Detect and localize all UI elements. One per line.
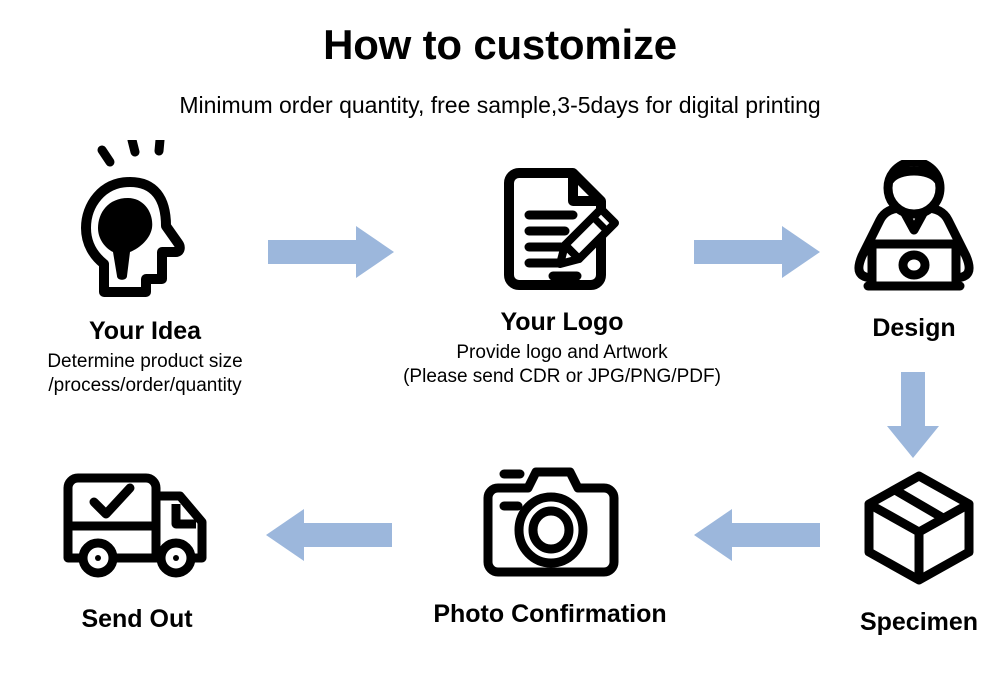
step-send-out: Send Out <box>22 466 252 634</box>
step-desc-line2: (Please send CDR or JPG/PNG/PDF) <box>352 365 772 389</box>
step-title: Send Out <box>22 605 252 634</box>
how-to-customize-infographic: How to customize Minimum order quantity,… <box>0 0 1000 689</box>
document-pencil-icon <box>497 163 627 298</box>
arrow-left-icon <box>262 505 392 565</box>
arrow-right-icon <box>694 222 822 282</box>
page-subtitle: Minimum order quantity, free sample,3-5d… <box>0 92 1000 120</box>
step-title: Specimen <box>838 608 1000 637</box>
step-title: Your Idea <box>0 317 290 346</box>
designer-laptop-icon <box>844 160 984 300</box>
delivery-truck-check-icon <box>62 466 212 581</box>
step-title: Your Logo <box>352 308 772 337</box>
step-photo-confirmation: Photo Confirmation <box>400 462 700 629</box>
arrow-right-icon <box>268 222 396 282</box>
step-desc-line1: Determine product size <box>0 350 290 374</box>
step-your-idea: Your Idea Determine product size /proces… <box>0 140 290 397</box>
package-box-icon <box>859 468 979 588</box>
step-title: Photo Confirmation <box>400 600 700 629</box>
step-title: Design <box>828 314 1000 343</box>
head-lightbulb-icon <box>80 140 210 305</box>
page-title: How to customize <box>0 22 1000 68</box>
step-desc-line1: Provide logo and Artwork <box>352 341 772 365</box>
arrow-down-icon <box>883 372 943 460</box>
step-design: Design <box>828 160 1000 343</box>
arrow-left-icon <box>690 505 820 565</box>
step-desc-line2: /process/order/quantity <box>0 374 290 398</box>
step-specimen: Specimen <box>838 468 1000 637</box>
camera-icon <box>480 462 620 582</box>
